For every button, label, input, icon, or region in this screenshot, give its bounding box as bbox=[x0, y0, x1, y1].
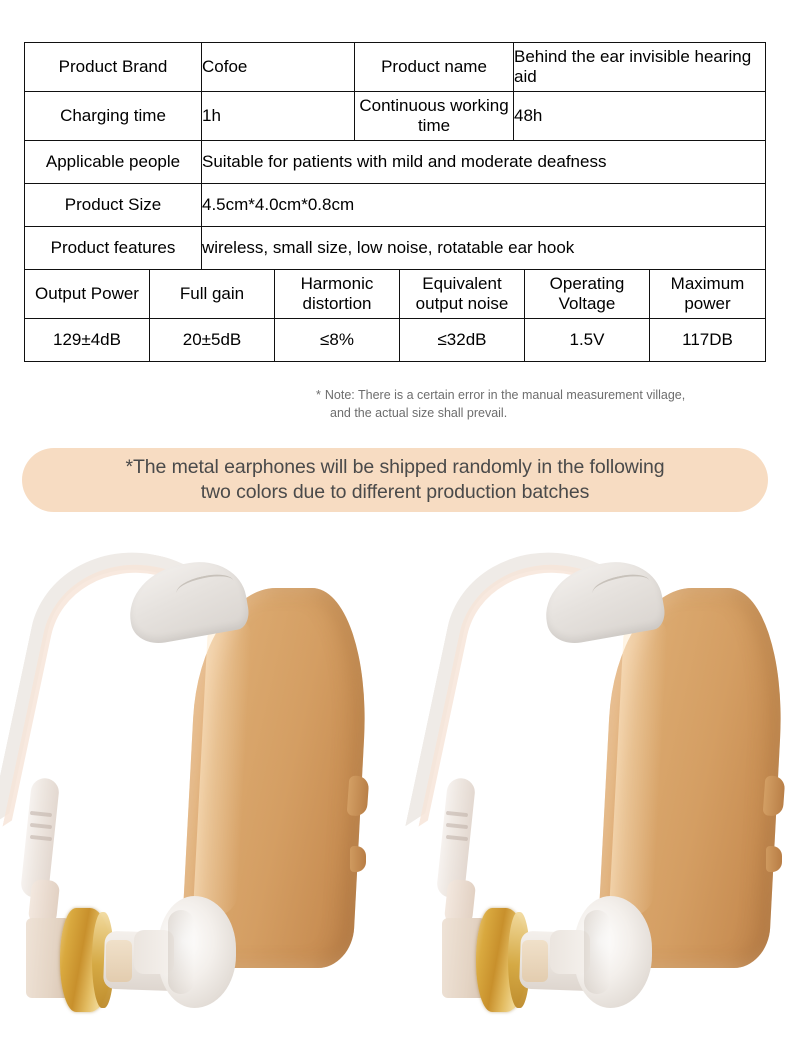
product-photo-variant-1 bbox=[0, 530, 395, 970]
cell-product-features-value: wireless, small size, low noise, rotatab… bbox=[202, 227, 766, 270]
cell-working-time-label: Continuous working time bbox=[355, 92, 514, 141]
product-photo-variant-2 bbox=[398, 530, 790, 970]
ear-dome-shading bbox=[168, 910, 194, 994]
hearing-aid-illustration bbox=[8, 540, 388, 965]
cell-product-size-label: Product Size bbox=[25, 184, 202, 227]
parameters-value-row: 129±4dB 20±5dB ≤8% ≤32dB 1.5V 117DB bbox=[25, 319, 766, 362]
cell-applicable-people-label: Applicable people bbox=[25, 141, 202, 184]
parameters-table: Output Power Full gain Harmonic distorti… bbox=[24, 269, 766, 362]
banner-line-2: two colors due to different production b… bbox=[201, 481, 590, 503]
param-header-output-power: Output Power bbox=[25, 270, 150, 319]
param-value-output-power: 129±4dB bbox=[25, 319, 150, 362]
measurement-note: *Note: There is a certain error in the m… bbox=[316, 386, 756, 422]
param-header-equivalent-output-noise: Equivalent output noise bbox=[400, 270, 525, 319]
note-line-1: Note: There is a certain error in the ma… bbox=[325, 388, 685, 402]
cell-product-brand-label: Product Brand bbox=[25, 43, 202, 92]
table-row: Product Size 4.5cm*4.0cm*0.8cm bbox=[25, 184, 766, 227]
cell-charging-time-label: Charging time bbox=[25, 92, 202, 141]
param-value-operating-voltage: 1.5V bbox=[525, 319, 650, 362]
param-value-equivalent-output-noise: ≤32dB bbox=[400, 319, 525, 362]
param-value-maximum-power: 117DB bbox=[650, 319, 766, 362]
param-header-harmonic-distortion: Harmonic distortion bbox=[275, 270, 400, 319]
ear-dome-shading bbox=[584, 910, 610, 994]
param-header-maximum-power: Maximum power bbox=[650, 270, 766, 319]
ear-tip-stem-ring bbox=[522, 940, 548, 982]
hearing-aid-illustration bbox=[424, 540, 790, 965]
table-row: Product features wireless, small size, l… bbox=[25, 227, 766, 270]
banner-text: *The metal earphones will be shipped ran… bbox=[103, 455, 686, 505]
note-asterisk: * bbox=[316, 388, 321, 402]
cell-product-name-value: Behind the ear invisible hearing aid bbox=[514, 43, 766, 92]
param-header-full-gain: Full gain bbox=[150, 270, 275, 319]
cell-working-time-value: 48h bbox=[514, 92, 766, 141]
program-switch-nub bbox=[766, 846, 782, 872]
param-value-harmonic-distortion: ≤8% bbox=[275, 319, 400, 362]
cell-product-features-label: Product features bbox=[25, 227, 202, 270]
specification-table-container: Product Brand Cofoe Product name Behind … bbox=[24, 42, 766, 362]
parameters-header-row: Output Power Full gain Harmonic distorti… bbox=[25, 270, 766, 319]
product-image-gallery bbox=[0, 530, 790, 970]
banner-line-1: *The metal earphones will be shipped ran… bbox=[125, 456, 664, 478]
table-row: Applicable people Suitable for patients … bbox=[25, 141, 766, 184]
volume-control-nub bbox=[763, 775, 786, 816]
color-variation-banner: *The metal earphones will be shipped ran… bbox=[22, 448, 768, 512]
ear-tip-stem-ring bbox=[106, 940, 132, 982]
param-value-full-gain: 20±5dB bbox=[150, 319, 275, 362]
volume-control-nub bbox=[347, 775, 370, 816]
cell-product-size-value: 4.5cm*4.0cm*0.8cm bbox=[202, 184, 766, 227]
note-line-2: and the actual size shall prevail. bbox=[316, 404, 756, 422]
cell-applicable-people-value: Suitable for patients with mild and mode… bbox=[202, 141, 766, 184]
table-row: Charging time 1h Continuous working time… bbox=[25, 92, 766, 141]
table-row: Product Brand Cofoe Product name Behind … bbox=[25, 43, 766, 92]
cell-product-name-label: Product name bbox=[355, 43, 514, 92]
cell-charging-time-value: 1h bbox=[202, 92, 355, 141]
param-header-operating-voltage: Operating Voltage bbox=[525, 270, 650, 319]
specification-table: Product Brand Cofoe Product name Behind … bbox=[24, 42, 766, 270]
cell-product-brand-value: Cofoe bbox=[202, 43, 355, 92]
program-switch-nub bbox=[350, 846, 366, 872]
